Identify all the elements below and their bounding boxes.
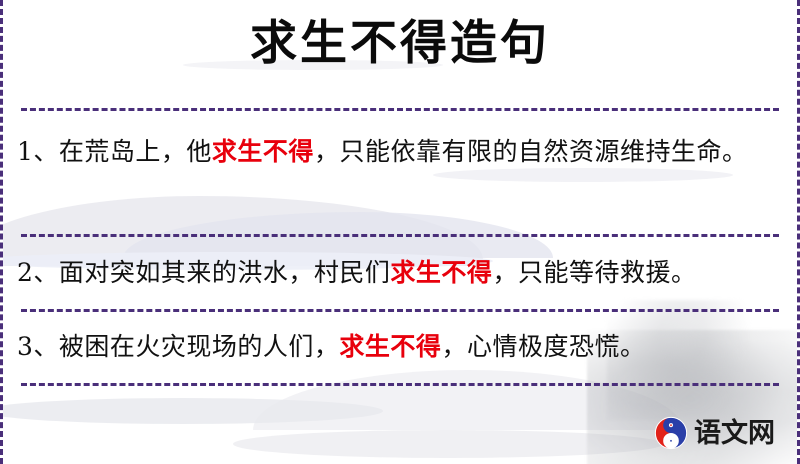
sentence-item-1: 1、在荒岛上，他求生不得，只能依靠有限的自然资源维持生命。 <box>17 131 781 172</box>
site-logo[interactable]: 语文网 <box>654 416 775 450</box>
yinyang-emblem-icon <box>654 416 688 450</box>
divider-top <box>21 108 779 111</box>
sentence-1-keyword: 求生不得 <box>212 137 314 166</box>
sentence-2-keyword: 求生不得 <box>390 258 492 287</box>
sentence-3-keyword: 求生不得 <box>339 332 441 361</box>
sentence-3-after: ，心情极度恐慌。 <box>441 332 645 361</box>
sentence-2-after: ，只能等待救援。 <box>492 258 696 287</box>
worksheet-page: 求生不得造句 1、在荒岛上，他求生不得，只能依靠有限的自然资源维持生命。 2、面… <box>0 0 800 464</box>
sentence-1-number: 1、 <box>17 137 59 166</box>
sentence-item-2: 2、面对突如其来的洪水，村民们求生不得，只能等待救援。 <box>17 252 781 293</box>
site-logo-text: 语文网 <box>694 420 775 447</box>
page-title: 求生不得造句 <box>3 16 797 72</box>
sentence-item-3: 3、被困在火灾现场的人们，求生不得，心情极度恐慌。 <box>17 326 781 367</box>
sentence-2-before: 面对突如其来的洪水，村民们 <box>59 258 391 287</box>
sentence-2-number: 2、 <box>17 258 59 287</box>
sentence-3-before: 被困在火灾现场的人们， <box>59 332 340 361</box>
sentence-3-number: 3、 <box>17 332 59 361</box>
sentence-1-before: 在荒岛上，他 <box>59 137 212 166</box>
divider-after-1 <box>21 234 779 237</box>
divider-bottom <box>21 383 779 386</box>
divider-after-2 <box>21 309 779 312</box>
sentence-1-after: ，只能依靠有限的自然资源维持生命。 <box>314 137 748 166</box>
